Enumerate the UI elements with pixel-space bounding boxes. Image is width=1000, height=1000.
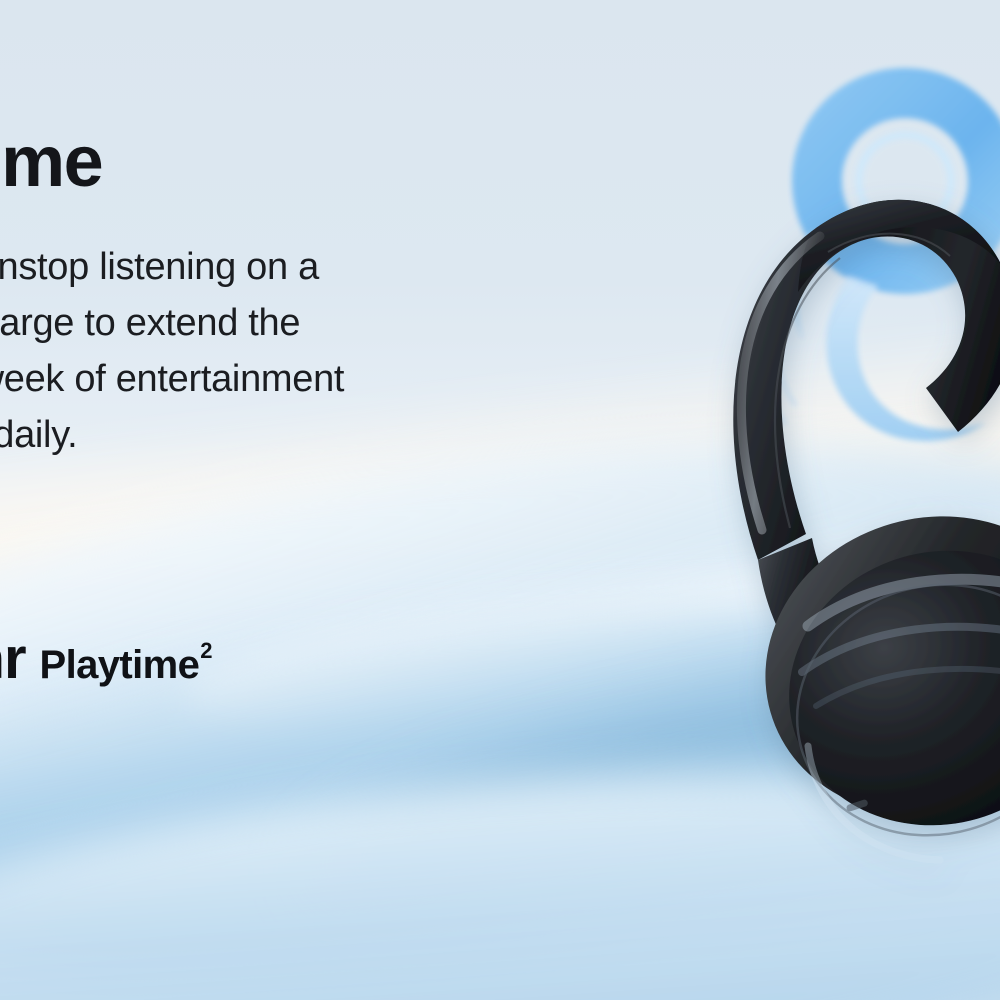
body-line-1: Enjoy nonstop listening on a	[0, 240, 612, 296]
playtime-stat-unit: hr	[0, 630, 26, 688]
footnote-marker: 2	[200, 638, 212, 664]
product-feature-banner: Playtime Enjoy nonstop listening on a si…	[0, 0, 1000, 1000]
body-line-2: single charge to extend the	[0, 296, 612, 352]
body-line-3: normal week of entertainment	[0, 352, 612, 408]
copy-block: Playtime Enjoy nonstop listening on a si…	[0, 0, 640, 1000]
page-title: Playtime	[0, 126, 102, 198]
playtime-stat: 80 hr Playtime 2	[0, 630, 212, 688]
body-line-4: you use daily.	[0, 408, 612, 464]
playtime-stat-label: Playtime	[40, 645, 200, 685]
body-copy: Enjoy nonstop listening on a single char…	[0, 240, 612, 463]
